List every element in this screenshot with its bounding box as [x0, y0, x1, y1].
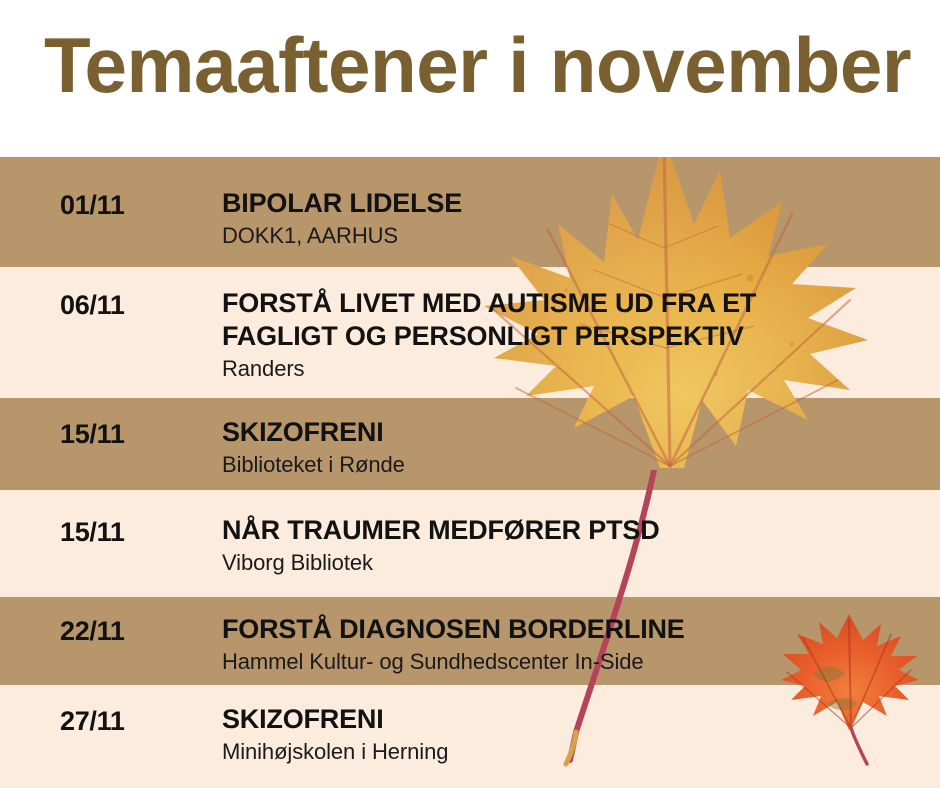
band-row-5	[0, 597, 940, 685]
poster-header: Temaaftener i november	[0, 0, 940, 157]
poster-canvas: Temaaftener i november 01/11 BIPOLAR LID…	[0, 0, 940, 788]
band-row-2	[0, 267, 940, 398]
band-row-6	[0, 685, 940, 788]
band-row-4	[0, 490, 940, 597]
band-row-3	[0, 398, 940, 490]
band-row-1	[0, 157, 940, 267]
page-title: Temaaftener i november	[44, 23, 887, 107]
